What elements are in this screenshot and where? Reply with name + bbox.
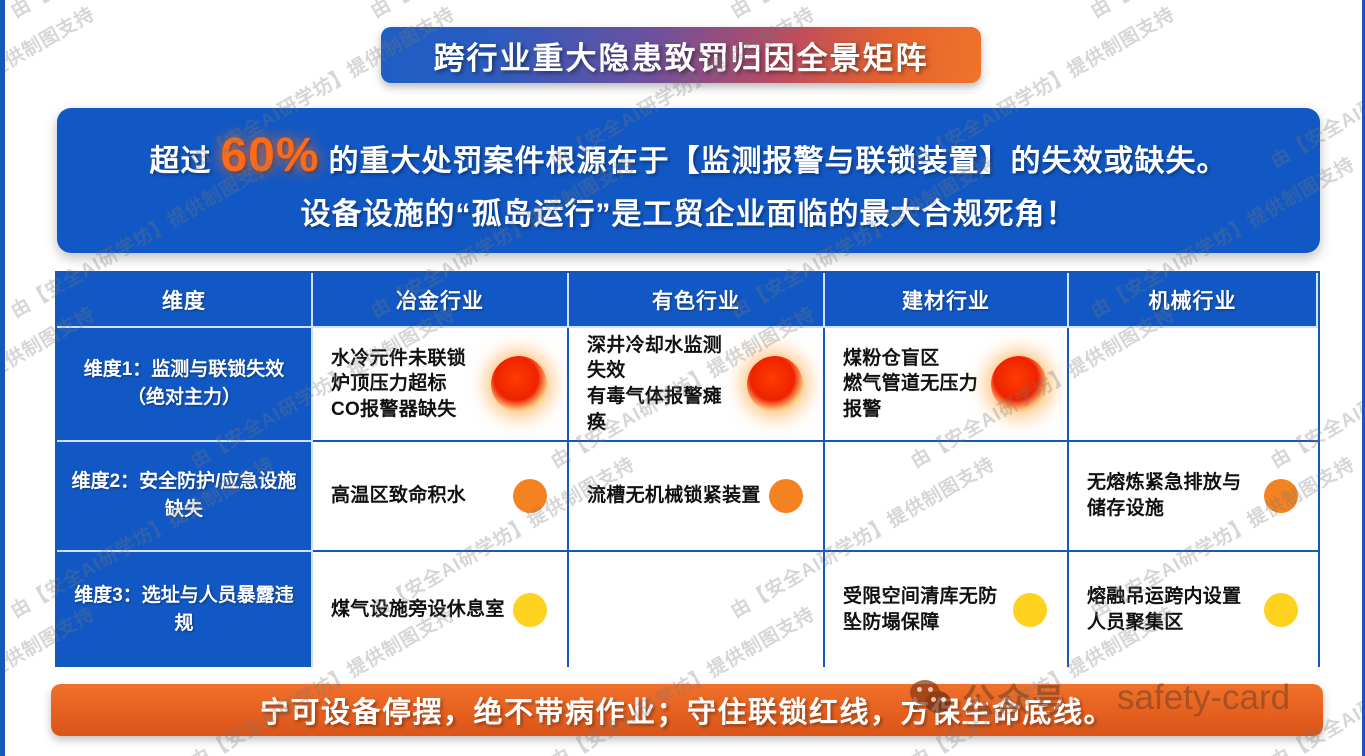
- matrix-cell-text: 流槽无机械锁紧装置: [587, 483, 761, 509]
- matrix-cell-r2-c3: 熔融吊运跨内设置人员聚集区: [1069, 552, 1318, 667]
- matrix-cell-r2-c2: 受限空间清库无防坠防塌保障: [825, 552, 1069, 667]
- page-title: 跨行业重大隐患致罚归因全景矩阵: [434, 33, 929, 78]
- key-finding-line-2: 设备设施的“孤岛运行”是工贸企业面临的最大合规死角！: [301, 189, 1077, 233]
- matrix-cell-r0-c2: 煤粉仓盲区 燃气管道无压力报警: [825, 328, 1069, 442]
- matrix-dimension-label-2: 维度3：选址与人员暴露违规: [57, 552, 313, 667]
- severity-dot-none: [769, 593, 803, 627]
- matrix-cell-text: 受限空间清库无防坠防塌保障: [843, 584, 1005, 635]
- matrix-cell-r0-c0: 水冷元件未联锁 炉顶压力超标 CO报警器缺失: [313, 328, 569, 442]
- key-finding-line-1: 超过 60% 的重大处罚案件根源在于【监测报警与联锁装置】的失效或缺失。: [149, 128, 1227, 183]
- matrix-cell-text: 煤粉仓盲区 燃气管道无压力报警: [843, 346, 983, 423]
- matrix-header-1: 冶金行业: [313, 273, 569, 328]
- matrix-header-3: 建材行业: [825, 273, 1069, 328]
- severity-dot-none: [1264, 367, 1298, 401]
- matrix-header-0: 维度: [57, 273, 313, 328]
- severity-dot-orange: [1264, 479, 1298, 513]
- severity-dot-orange: [769, 479, 803, 513]
- matrix-header-2: 有色行业: [569, 273, 825, 328]
- footer-banner: 宁可设备停摆，绝不带病作业；守住联锁红线，方保生命底线。: [51, 684, 1323, 736]
- watermark-text: 由【安全AI研学坊】提供制图支持: [1085, 0, 1359, 23]
- watermark-text: 由【安全AI研学坊】提供制图支持: [5, 0, 279, 23]
- key-finding-suffix: 的重大处罚案件根源在于【监测报警与联锁装置】的失效或缺失。: [329, 136, 1228, 180]
- watermark-text: 由【安全AI研学坊】提供制图支持: [365, 749, 639, 756]
- matrix-cell-text: 深井冷却水监测失效 有毒气体报警瘫痪: [587, 333, 739, 436]
- severity-dot-orange: [513, 479, 547, 513]
- watermark-text: 由【安全AI研学坊】提供制图支持: [365, 0, 639, 23]
- matrix-cell-text: 水冷元件未联锁 炉顶压力超标 CO报警器缺失: [331, 346, 483, 423]
- severity-dot-red: [747, 356, 803, 412]
- key-finding-percentage: 60%: [211, 128, 328, 183]
- matrix-cell-text: 煤气设施旁设休息室: [331, 597, 505, 623]
- matrix-cell-text: 高温区致命积水: [331, 483, 505, 509]
- matrix-cell-r1-c2: [825, 442, 1069, 552]
- severity-dot-none: [1013, 479, 1047, 513]
- severity-dot-red: [491, 356, 547, 412]
- key-finding-banner: 超过 60% 的重大处罚案件根源在于【监测报警与联锁装置】的失效或缺失。 设备设…: [57, 108, 1320, 253]
- key-finding-prefix: 超过: [149, 136, 211, 180]
- matrix-cell-r1-c3: 无熔炼紧急排放与储存设施: [1069, 442, 1318, 552]
- matrix-cell-r1-c1: 流槽无机械锁紧装置: [569, 442, 825, 552]
- severity-dot-red: [991, 356, 1047, 412]
- matrix-dimension-label-0: 维度1：监测与联锁失效（绝对主力）: [57, 328, 313, 442]
- severity-dot-yellow: [1264, 593, 1298, 627]
- watermark-text: 由【安全AI研学坊】提供制图支持: [725, 749, 999, 756]
- matrix-cell-text: 熔融吊运跨内设置人员聚集区: [1087, 584, 1256, 635]
- matrix-header-4: 机械行业: [1069, 273, 1318, 328]
- watermark-text: 由【安全AI研学坊】提供制图支持: [5, 749, 279, 756]
- matrix-table: 维度冶金行业有色行业建材行业机械行业维度1：监测与联锁失效（绝对主力）水冷元件未…: [55, 271, 1320, 667]
- matrix-cell-r2-c0: 煤气设施旁设休息室: [313, 552, 569, 667]
- watermark-text: 由【安全AI研学坊】提供制图支持: [1085, 749, 1359, 756]
- matrix-cell-r2-c1: [569, 552, 825, 667]
- matrix-cell-r1-c0: 高温区致命积水: [313, 442, 569, 552]
- severity-dot-yellow: [513, 593, 547, 627]
- footer-slogan: 宁可设备停摆，绝不带病作业；守住联锁红线，方保生命底线。: [260, 689, 1114, 731]
- watermark-text: 由【安全AI研学坊】提供制图支持: [725, 0, 999, 23]
- matrix-cell-text: 无熔炼紧急排放与储存设施: [1087, 470, 1256, 521]
- title-banner: 跨行业重大隐患致罚归因全景矩阵: [381, 27, 981, 83]
- matrix-dimension-label-1: 维度2：安全防护/应急设施缺失: [57, 442, 313, 552]
- matrix-cell-r0-c1: 深井冷却水监测失效 有毒气体报警瘫痪: [569, 328, 825, 442]
- severity-dot-yellow: [1013, 593, 1047, 627]
- matrix-cell-r0-c3: [1069, 328, 1318, 442]
